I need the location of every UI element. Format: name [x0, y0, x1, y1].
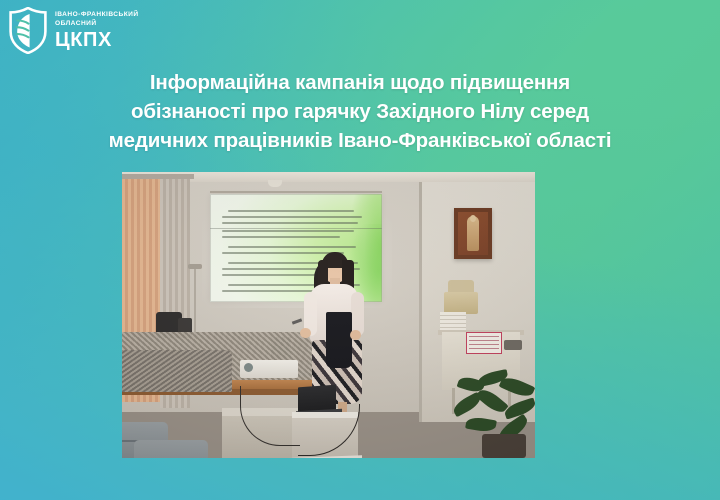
- red-framed-plaque-text: [469, 336, 499, 350]
- brand-abbreviation: ЦКПХ: [55, 30, 139, 51]
- plant-leaf: [475, 385, 509, 416]
- brand-logo-text: ІВАНО-ФРАНКІВСЬКИЙ ОБЛАСНИЙ ЦКПХ: [55, 10, 139, 51]
- patterned-cloth-2: [122, 350, 232, 392]
- presenter-folder: [326, 312, 352, 368]
- page-title: Інформаційна кампанія щодо підвищення об…: [0, 68, 720, 155]
- brand-logo[interactable]: ІВАНО-ФРАНКІВСЬКИЙ ОБЛАСНИЙ ЦКПХ: [9, 7, 139, 54]
- chair: [134, 440, 208, 458]
- projection-screen-frame: [210, 194, 382, 302]
- shelf-object: [444, 292, 478, 314]
- presentation-room-photo: [122, 172, 535, 458]
- ceiling-lamp: [268, 180, 282, 187]
- page-title-line-3: медичних працівників Івано-Франківської …: [34, 126, 686, 155]
- presenter-hand-left: [300, 328, 311, 338]
- presenter-hand-right: [350, 330, 361, 340]
- plant-leaf: [499, 374, 535, 401]
- page-title-line-1: Інформаційна кампанія щодо підвищення: [34, 68, 686, 97]
- page-title-line-2: обізнаності про гарячку Західного Нілу с…: [34, 97, 686, 126]
- iv-stand-head: [188, 264, 202, 269]
- plant-pot: [482, 434, 526, 458]
- brand-line-1: ІВАНО-ФРАНКІВСЬКИЙ: [55, 10, 139, 19]
- projection-screen-top-bar: [210, 191, 382, 193]
- brand-line-2: ОБЛАСНИЙ: [55, 19, 139, 28]
- window-blinds-rail: [122, 174, 194, 179]
- stack-of-books: [440, 312, 466, 332]
- dark-box-object: [504, 340, 522, 350]
- shield-leaf-logo-icon: [9, 7, 47, 54]
- projector-lens: [244, 363, 253, 372]
- framed-icon-figure-head: [470, 215, 476, 222]
- plant-leaf: [465, 415, 497, 433]
- room-wall-corner: [419, 172, 422, 422]
